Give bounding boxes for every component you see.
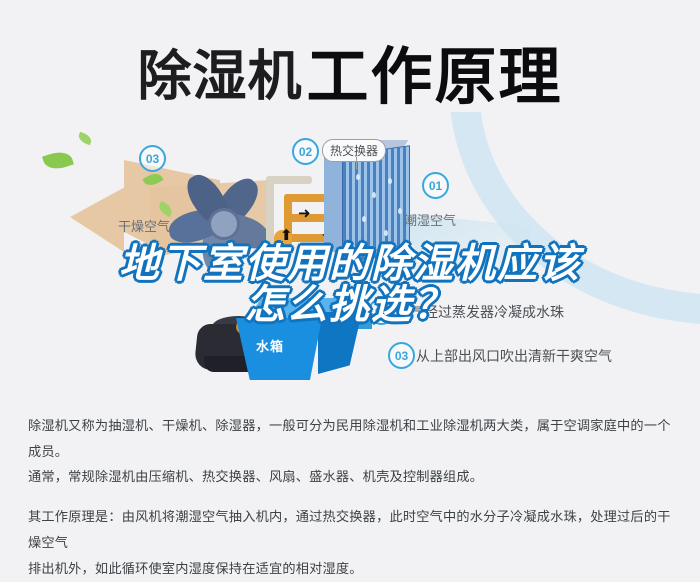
condensation-droplet: [372, 192, 376, 198]
water-tank-label: 水箱: [256, 336, 284, 355]
leaf-icon: [77, 132, 93, 146]
callout-badge-03: 03: [139, 145, 166, 172]
paragraph-2: 其工作原理是：由风机将潮湿空气抽入机内，通过热交换器，此时空气中的水分子冷凝成水…: [28, 505, 676, 582]
step-badge-02: 02: [368, 298, 395, 325]
paragraph-1-line-1: 除湿机又称为抽湿机、干燥机、除湿器，一般可分为民用除湿机和工业除湿机两大类，属于…: [28, 419, 671, 460]
step-text-02: 空气经过蒸发器冷凝成水珠: [396, 302, 564, 322]
evaporator-side-panel: [324, 148, 344, 256]
coil-pipe: [266, 176, 312, 184]
paragraph-2-line-2: 排出机外，如此循环使室内湿度保持在适宜的相对湿度。: [28, 562, 363, 577]
paragraph-1: 除湿机又称为抽湿机、干燥机、除湿器，一般可分为民用除湿机和工业除湿机两大类，属于…: [28, 414, 676, 491]
water-tank-side: [318, 312, 362, 374]
callout-label-humid-air: 潮湿空气: [404, 210, 456, 229]
condensation-droplet: [388, 178, 392, 184]
callout-label-heat-exchanger: 热交换器: [322, 139, 386, 162]
callout-pointer-line: [356, 157, 357, 169]
callout-label-dry-air: 干燥空气: [118, 216, 170, 235]
step-badge-03: 03: [388, 342, 415, 369]
coil-pipe: [266, 176, 274, 258]
flow-arrow-up-icon: ⬆: [280, 228, 293, 243]
callout-badge-01: 01: [422, 172, 449, 199]
title-segment-principle: 工作原理: [306, 40, 562, 113]
leaf-icon: [42, 148, 74, 173]
article-body: 除湿机又称为抽湿机、干燥机、除湿器，一般可分为民用除湿机和工业除湿机两大类，属于…: [28, 414, 676, 582]
condensation-droplet: [356, 174, 360, 180]
fan-hub: [208, 208, 240, 240]
paragraph-1-line-2: 通常，常规除湿机由压缩机、热交换器、风扇、盛水器、机壳及控制器组成。: [28, 470, 483, 485]
header-banner: 除湿机工作原理: [0, 0, 700, 118]
infographic-page: 除湿机工作原理 ➜: [0, 0, 700, 566]
page-title: 除湿机工作原理: [0, 26, 700, 116]
condensation-droplet: [362, 216, 366, 222]
step-text-03: 从上部出风口吹出清新干爽空气: [416, 346, 612, 366]
flow-arrow-right-icon: ➜: [298, 206, 311, 221]
paragraph-2-line-1: 其工作原理是：由风机将潮湿空气抽入机内，通过热交换器，此时空气中的水分子冷凝成水…: [28, 510, 671, 551]
title-segment-product: 除湿机: [137, 45, 302, 108]
callout-badge-02: 02: [292, 138, 319, 165]
illustration-stage: ➜ ⬇ ⬆ 水箱 03 干燥空气 02 热交换器 01 潮湿空气 02: [0, 112, 700, 400]
condensation-droplet: [398, 208, 402, 214]
condensation-droplet: [384, 230, 388, 236]
evaporator-fin-block: [342, 145, 410, 263]
